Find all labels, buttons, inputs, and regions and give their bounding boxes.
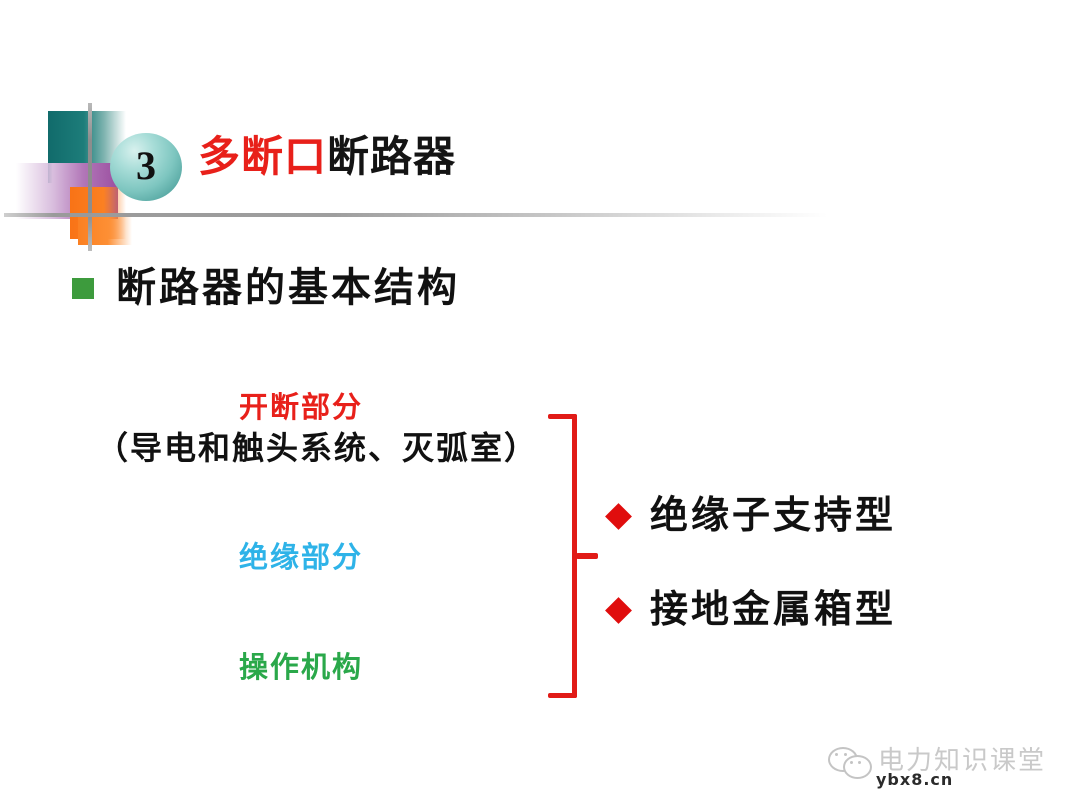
- wechat-bubble-small: [843, 755, 872, 779]
- section-heading: 断路器的基本结构: [72, 268, 460, 308]
- structure-label-mechanism: 操作机构: [239, 653, 363, 682]
- structure-sublabel-breaking: （导电和触头系统、灭弧室）: [96, 432, 538, 464]
- diamond-bullet-icon: [605, 597, 632, 624]
- brace-arm-bottom: [548, 693, 577, 698]
- slide-title-black: 断路器: [327, 132, 456, 181]
- wechat-dot: [844, 753, 847, 756]
- brace-connector-icon: [548, 414, 610, 698]
- watermark: 电力知识课堂 ybx8.cn: [828, 742, 1076, 806]
- slide-title-red: 多断口: [198, 132, 327, 181]
- brace-pointer: [576, 553, 598, 559]
- slide-number-badge: 3: [110, 133, 182, 201]
- list-item: 绝缘子支持型: [609, 497, 896, 535]
- decoration-horizontal-rule: [4, 213, 828, 217]
- structure-label-breaking: 开断部分: [239, 393, 363, 422]
- wechat-icon: [828, 746, 870, 776]
- watermark-url: ybx8.cn: [876, 772, 953, 788]
- decoration-orange-square-lower: [78, 217, 132, 245]
- slide-title: 多断口断路器: [198, 136, 456, 178]
- wechat-dot: [858, 761, 861, 764]
- right-item-label: 接地金属箱型: [650, 591, 896, 629]
- slide-number-text: 3: [136, 146, 156, 186]
- square-bullet-icon: [72, 278, 94, 299]
- structure-label-insulation: 绝缘部分: [239, 543, 363, 572]
- diamond-bullet-icon: [605, 503, 632, 530]
- section-heading-label: 断路器的基本结构: [116, 268, 460, 308]
- slide-canvas: 3 多断口断路器 断路器的基本结构 开断部分 （导电和触头系统、灭弧室） 绝缘部…: [0, 0, 1080, 810]
- decoration-vertical-rule: [88, 103, 92, 251]
- wechat-dot: [835, 753, 838, 756]
- right-item-label: 绝缘子支持型: [650, 497, 896, 535]
- list-item: 接地金属箱型: [609, 591, 896, 629]
- wechat-dot: [850, 761, 853, 764]
